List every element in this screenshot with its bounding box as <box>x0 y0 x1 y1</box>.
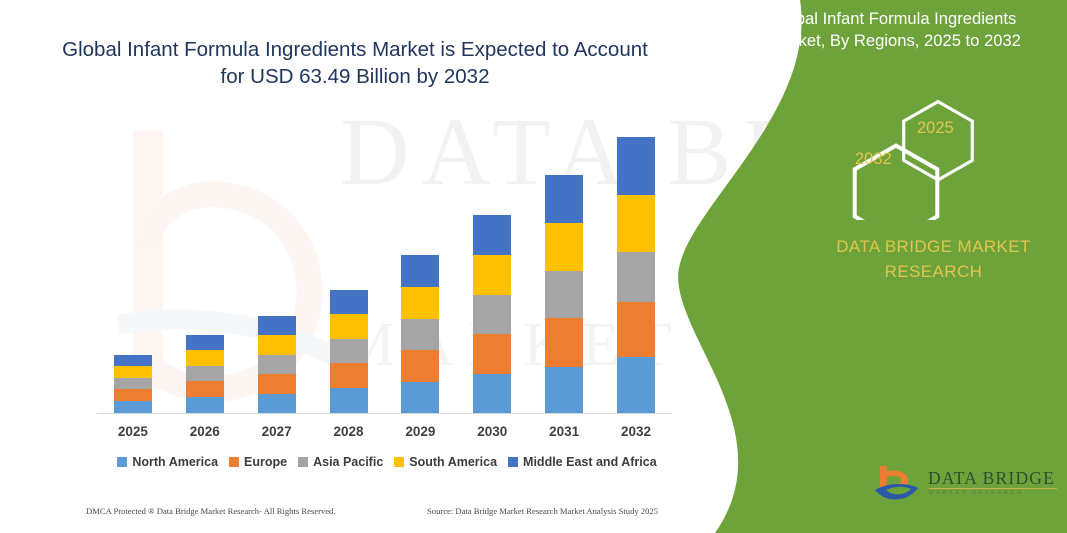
bar-segment <box>186 381 224 397</box>
hexagon-shapes <box>800 90 1030 220</box>
bar-segment <box>114 355 152 366</box>
legend-item-europe[interactable]: Europe <box>229 455 287 469</box>
bar-segment <box>401 287 439 319</box>
data-bridge-logo: DATA BRIDGE MARKET RESEARCH <box>872 462 1062 510</box>
chart-title: Global Infant Formula Ingredients Market… <box>60 36 650 91</box>
bar-segment <box>258 316 296 335</box>
brand-line-2: RESEARCH <box>885 262 983 281</box>
bar-segment <box>401 319 439 350</box>
bar-segment <box>401 255 439 287</box>
bar-segment <box>473 334 511 374</box>
brand-name: DATA BRIDGE MARKET RESEARCH <box>800 235 1067 284</box>
hexagon-label-2032: 2032 <box>855 150 892 169</box>
logo-divider <box>929 488 1057 489</box>
bar-2025[interactable] <box>114 355 152 413</box>
hexagon-label-2025: 2025 <box>917 119 954 138</box>
footer-copyright: DMCA Protected ® Data Bridge Market Rese… <box>86 506 336 516</box>
bar-segment <box>114 389 152 401</box>
bar-segment <box>186 366 224 381</box>
legend-item-north-america[interactable]: North America <box>117 455 218 469</box>
legend-swatch-icon <box>298 457 308 467</box>
bar-segment <box>617 195 655 252</box>
legend-label: Asia Pacific <box>313 455 383 469</box>
x-axis-line <box>97 413 672 414</box>
legend-item-asia-pacific[interactable]: Asia Pacific <box>298 455 383 469</box>
bar-segment <box>617 302 655 357</box>
bar-segment <box>258 355 296 374</box>
chart-legend: North AmericaEuropeAsia PacificSouth Ame… <box>97 455 677 469</box>
bar-segment <box>114 401 152 414</box>
logo-mark-icon <box>872 462 924 506</box>
legend-label: Europe <box>244 455 287 469</box>
bar-segment <box>186 397 224 413</box>
chart-plot-area <box>97 120 672 413</box>
bar-segment <box>258 394 296 413</box>
logo-tagline: MARKET RESEARCH <box>929 490 1024 496</box>
legend-swatch-icon <box>394 457 404 467</box>
footer-source: Source: Data Bridge Market Research Mark… <box>427 506 658 516</box>
bar-segment <box>545 271 583 318</box>
bar-segment <box>186 335 224 350</box>
bar-segment <box>330 388 368 413</box>
legend-item-south-america[interactable]: South America <box>394 455 497 469</box>
legend-label: North America <box>132 455 218 469</box>
bar-segment <box>401 382 439 413</box>
x-label-2026: 2026 <box>170 424 240 439</box>
x-label-2027: 2027 <box>242 424 312 439</box>
bar-2030[interactable] <box>473 215 511 413</box>
bar-segment <box>473 295 511 334</box>
bar-segment <box>545 318 583 367</box>
bar-2029[interactable] <box>401 255 439 413</box>
bar-segment <box>473 374 511 413</box>
panel-title: Global Infant Formula Ingredients Market… <box>770 8 1055 53</box>
bar-2028[interactable] <box>330 290 368 413</box>
legend-label: South America <box>409 455 497 469</box>
bar-2031[interactable] <box>545 175 583 413</box>
bar-segment <box>330 339 368 363</box>
bar-2026[interactable] <box>186 335 224 413</box>
bar-segment <box>186 350 224 366</box>
x-label-2028: 2028 <box>314 424 384 439</box>
legend-swatch-icon <box>508 457 518 467</box>
legend-swatch-icon <box>117 457 127 467</box>
bar-segment <box>330 314 368 339</box>
bar-segment <box>258 374 296 394</box>
bar-segment <box>473 255 511 295</box>
bar-segment <box>545 367 583 413</box>
bar-segment <box>545 223 583 271</box>
x-axis-labels: 20252026202720282029203020312032 <box>97 424 672 446</box>
bar-segment <box>258 335 296 355</box>
bar-segment <box>473 215 511 255</box>
x-label-2032: 2032 <box>601 424 671 439</box>
brand-line-1: DATA BRIDGE MARKET <box>836 237 1031 256</box>
bar-segment <box>545 175 583 223</box>
legend-item-middle-east-and-africa[interactable]: Middle East and Africa <box>508 455 657 469</box>
bar-segment <box>617 252 655 302</box>
x-label-2029: 2029 <box>385 424 455 439</box>
hexagon-group: 2032 2025 <box>800 90 1030 220</box>
legend-label: Middle East and Africa <box>523 455 657 469</box>
x-label-2025: 2025 <box>98 424 168 439</box>
bar-2032[interactable] <box>617 137 655 413</box>
bar-2027[interactable] <box>258 316 296 413</box>
legend-swatch-icon <box>229 457 239 467</box>
logo-wordmark: DATA BRIDGE <box>928 468 1055 489</box>
bar-segment <box>330 363 368 389</box>
x-label-2030: 2030 <box>457 424 527 439</box>
bar-segment <box>114 378 152 389</box>
bar-segment <box>330 290 368 314</box>
bar-segment <box>617 137 655 195</box>
bar-segment <box>401 350 439 382</box>
bar-segment <box>617 357 655 413</box>
bar-segment <box>114 366 152 378</box>
x-label-2031: 2031 <box>529 424 599 439</box>
